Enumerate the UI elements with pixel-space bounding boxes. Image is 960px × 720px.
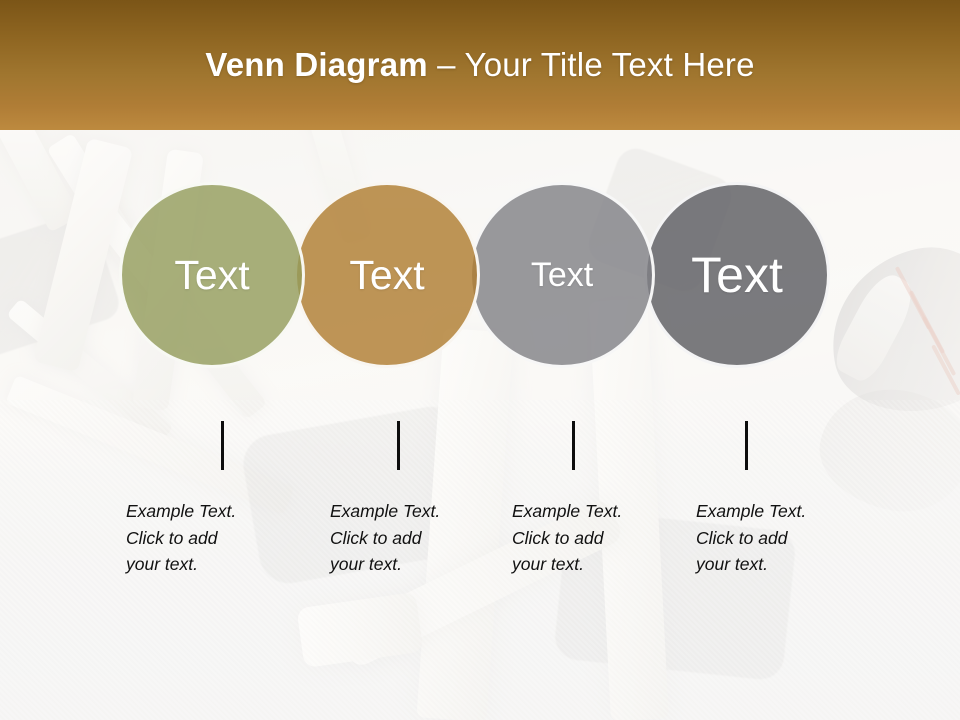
venn-circle-2[interactable]: Text (294, 182, 480, 368)
slide-title-bold: Venn Diagram (205, 46, 427, 83)
venn-diagram: Text Text Text Text Example Text. Click … (0, 130, 960, 720)
venn-circle-1[interactable]: Text (119, 182, 305, 368)
caption-text-2[interactable]: Example Text. Click to add your text. (330, 498, 490, 578)
venn-circle-1-label: Text (174, 252, 249, 299)
connector-line-3 (572, 421, 575, 470)
venn-circle-3[interactable]: Text (469, 182, 655, 368)
venn-circle-2-label: Text (349, 252, 424, 299)
caption-text-1[interactable]: Example Text. Click to add your text. (126, 498, 286, 578)
connector-line-4 (745, 421, 748, 470)
slide-canvas: Venn Diagram – Your Title Text Here Text… (0, 0, 960, 720)
slide-title-rest: – Your Title Text Here (428, 46, 755, 83)
caption-text-4[interactable]: Example Text. Click to add your text. (696, 498, 856, 578)
venn-circle-4[interactable]: Text (644, 182, 830, 368)
connector-line-2 (397, 421, 400, 470)
slide-header: Venn Diagram – Your Title Text Here (0, 0, 960, 130)
connector-line-1 (221, 421, 224, 470)
caption-text-3[interactable]: Example Text. Click to add your text. (512, 498, 672, 578)
venn-circle-3-label: Text (531, 256, 593, 295)
slide-title: Venn Diagram – Your Title Text Here (205, 46, 754, 84)
venn-circle-4-label: Text (691, 246, 783, 304)
